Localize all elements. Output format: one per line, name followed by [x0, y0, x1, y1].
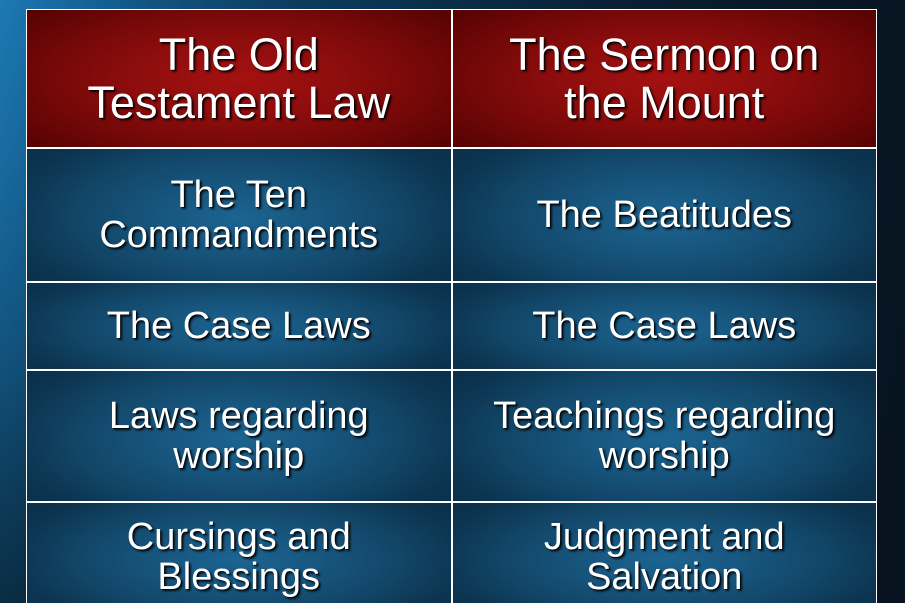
cell-text-case-laws-left: The Case Laws — [39, 306, 439, 346]
comparison-table: The Old Testament Law The Sermon on the … — [26, 9, 877, 603]
table-row: Cursings and Blessings Judgment and Salv… — [26, 502, 877, 603]
cell-right-row-2: The Case Laws — [452, 282, 878, 370]
cell-text-cursings-and-blessings: Cursings and Blessings — [39, 517, 439, 598]
table-row: Laws regarding worship Teachings regardi… — [26, 370, 877, 502]
cell-text-beatitudes: The Beatitudes — [465, 195, 865, 235]
cell-left-row-3: Laws regarding worship — [26, 370, 452, 502]
header-label-sermon-on-the-mount: The Sermon on the Mount — [465, 31, 865, 126]
cell-text-case-laws-right: The Case Laws — [465, 306, 865, 346]
table-header-cell-right: The Sermon on the Mount — [452, 9, 878, 148]
header-label-old-testament-law: The Old Testament Law — [39, 31, 439, 126]
table-header-cell-left: The Old Testament Law — [26, 9, 452, 148]
cell-text-judgment-and-salvation: Judgment and Salvation — [465, 517, 865, 598]
cell-text-laws-regarding-worship: Laws regarding worship — [39, 396, 439, 477]
cell-text-teachings-regarding-worship: Teachings regarding worship — [465, 396, 865, 477]
cell-right-row-1: The Beatitudes — [452, 148, 878, 282]
cell-left-row-1: The Ten Commandments — [26, 148, 452, 282]
cell-right-row-4: Judgment and Salvation — [452, 502, 878, 603]
cell-text-ten-commandments: The Ten Commandments — [39, 175, 439, 256]
cell-left-row-4: Cursings and Blessings — [26, 502, 452, 603]
table-header-row: The Old Testament Law The Sermon on the … — [26, 9, 877, 148]
slide-canvas: The Old Testament Law The Sermon on the … — [0, 0, 905, 603]
cell-left-row-2: The Case Laws — [26, 282, 452, 370]
table-row: The Case Laws The Case Laws — [26, 282, 877, 370]
cell-right-row-3: Teachings regarding worship — [452, 370, 878, 502]
table-row: The Ten Commandments The Beatitudes — [26, 148, 877, 282]
